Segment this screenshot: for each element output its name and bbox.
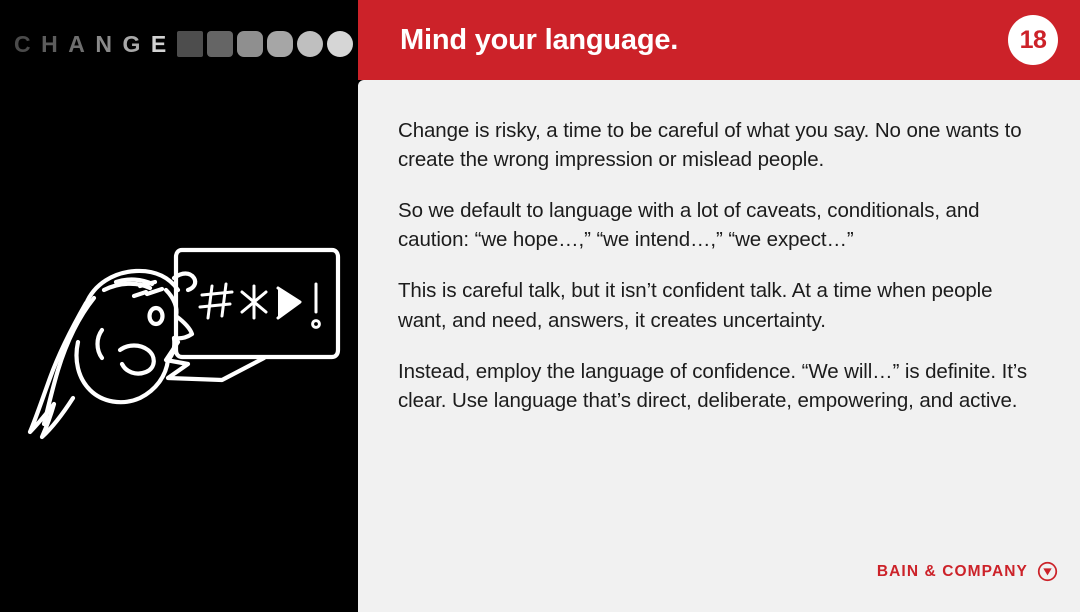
change-shape-sequence xyxy=(177,31,357,57)
change-wordmark: C H A N G E xyxy=(14,33,177,56)
bain-circle-triangle-icon xyxy=(1037,561,1058,582)
bain-wordmark: BAIN & COMPANY xyxy=(877,564,1028,580)
page-title: Mind your language. xyxy=(400,0,678,80)
brand-shape-2 xyxy=(207,31,233,57)
body-copy: Change is risky, a time to be careful of… xyxy=(398,116,1046,415)
brand-letter-n: N xyxy=(95,33,122,56)
paragraph-3: This is careful talk, but it isn’t confi… xyxy=(398,276,1046,334)
brand-shape-3 xyxy=(237,31,263,57)
brand-letter-e: E xyxy=(151,33,177,56)
illustration-person-shouting xyxy=(16,238,356,443)
paragraph-4: Instead, employ the language of confiden… xyxy=(398,357,1046,415)
brand-shape-4 xyxy=(267,31,293,57)
header-bar: Mind your language. 18 xyxy=(358,0,1080,80)
brand-shape-1 xyxy=(177,31,203,57)
slide-number-badge: 18 xyxy=(1008,15,1058,65)
illustration-svg xyxy=(16,238,356,443)
paragraph-2: So we default to language with a lot of … xyxy=(398,196,1046,254)
slide: Mind your language. 18 C H A N G E xyxy=(0,0,1080,612)
brand-letter-a: A xyxy=(68,33,95,56)
speech-bubble-grawlix xyxy=(200,284,319,327)
change-brand-lockup: C H A N G E xyxy=(14,26,357,62)
brand-letter-h: H xyxy=(41,33,68,56)
brand-letter-g: G xyxy=(123,33,151,56)
content-panel: Change is risky, a time to be careful of… xyxy=(358,80,1080,612)
brand-shape-5 xyxy=(297,31,323,57)
brand-shape-6 xyxy=(327,31,353,57)
bain-company-logo: BAIN & COMPANY xyxy=(877,561,1058,582)
brand-letter-c: C xyxy=(14,33,41,56)
paragraph-1: Change is risky, a time to be careful of… xyxy=(398,116,1046,174)
